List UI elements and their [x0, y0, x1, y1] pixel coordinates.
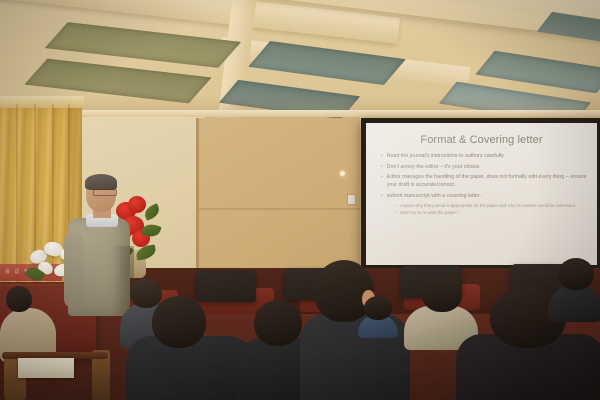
- presentation-slide: Format & Covering letter • Read the jour…: [366, 123, 597, 265]
- ceiling-panel: [248, 41, 406, 85]
- sub-bullet-marker: –: [395, 210, 397, 216]
- slide-sub-bullet: – Don't try to re-write the paper !: [395, 210, 588, 216]
- bullet-text: Read the journal's instructions to autho…: [387, 153, 588, 161]
- audience-member: [126, 296, 254, 400]
- slide-sub-bullet: – explain why that journal is appropriat…: [395, 203, 588, 209]
- slide-title: Format & Covering letter: [375, 134, 588, 146]
- bullet-text: Don't annoy the editor – it's your choic…: [387, 164, 588, 172]
- bullet-text: Editor manages the handling of the paper…: [387, 174, 588, 189]
- wall-trim: [0, 110, 600, 117]
- sub-bullet-text: Don't try to re-write the paper !: [400, 210, 458, 216]
- sub-bullet-text: explain why that journal is appropriate …: [400, 203, 576, 209]
- ceiling: [0, 0, 600, 122]
- light-switch[interactable]: [347, 194, 356, 205]
- slide-bullet: • Read the journal's instructions to aut…: [381, 153, 588, 161]
- sub-bullet-marker: –: [395, 203, 397, 209]
- projection-screen: Format & Covering letter • Read the jour…: [366, 123, 597, 265]
- stack-of-papers: [20, 366, 72, 370]
- wall-light-reflection: [340, 171, 345, 176]
- curtain-valance: [0, 96, 84, 108]
- slide-bullet: • Editor manages the handling of the pap…: [381, 174, 588, 189]
- bullet-text: submit manuscript with a covering letter…: [387, 193, 588, 201]
- audience-member: [0, 282, 56, 352]
- bullet-marker: •: [381, 153, 383, 161]
- audience-member: [548, 258, 600, 318]
- speaker-arm: [64, 232, 84, 308]
- glasses-icon: [93, 189, 117, 196]
- wall-seam-horizontal: [199, 208, 367, 210]
- bullet-marker: •: [381, 174, 383, 189]
- audience-member: [358, 296, 398, 336]
- bullet-marker: •: [381, 164, 383, 172]
- slide-bullet: • Don't annoy the editor – it's your cho…: [381, 164, 588, 172]
- slide-bullet: • submit manuscript with a covering lett…: [381, 193, 588, 201]
- lecture-hall-photo: Format & Covering letter • Read the jour…: [0, 0, 600, 400]
- speaker-hair: [85, 174, 117, 190]
- bullet-marker: •: [381, 193, 383, 201]
